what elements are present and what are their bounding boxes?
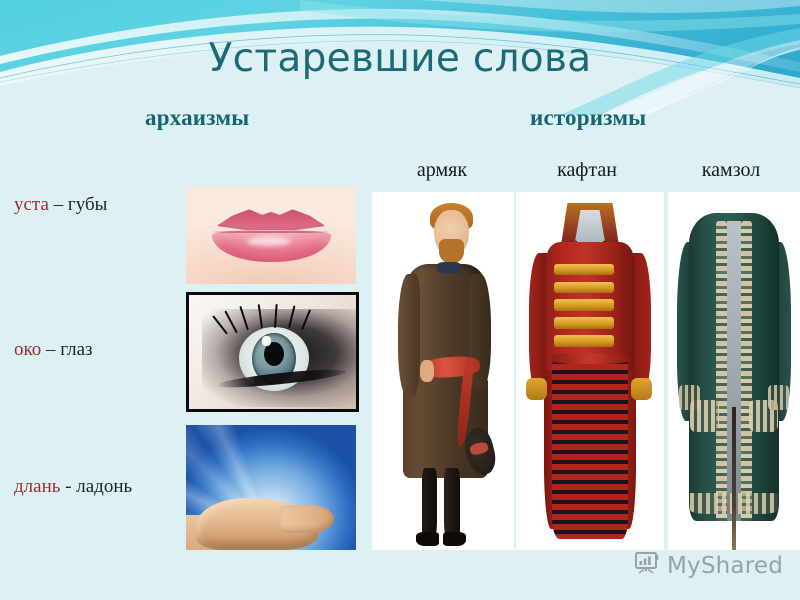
watermark-text: MyShared — [667, 553, 783, 579]
figure-collar — [437, 262, 461, 273]
slide-canvas: Устаревшие слова архаизмы историзмы уста… — [0, 0, 800, 600]
armyak-left-sleeve — [398, 274, 421, 396]
fingers — [280, 505, 334, 533]
gold-embroidery-left — [716, 221, 728, 522]
archaism-row: длань - ладонь — [14, 477, 179, 496]
archaism-row: око – глаз — [14, 340, 179, 359]
gold-braid-trim — [554, 282, 613, 294]
figure-hand — [420, 360, 434, 381]
figure-beard — [439, 239, 465, 264]
historicism-label-kamzol: камзол — [662, 159, 800, 182]
archaic-word: око — [14, 339, 41, 360]
gold-braid-trim — [554, 317, 613, 329]
right-boot-sole — [443, 532, 466, 546]
modern-word: ладонь — [76, 476, 132, 497]
gold-braid-trim — [554, 264, 613, 276]
display-mannequin-stand — [732, 407, 736, 550]
eye-photo — [186, 292, 359, 412]
historicism-label-row: армяк кафтан камзол — [372, 159, 800, 182]
modern-word: губы — [68, 194, 107, 215]
historicism-label-kaftan: кафтан — [512, 159, 662, 182]
gold-braid-trim — [554, 335, 613, 347]
category-header-historicisms: историзмы — [530, 105, 646, 131]
kamzol-left-cuff — [679, 385, 700, 410]
lips-photo — [186, 187, 356, 284]
palm-photo — [186, 425, 356, 550]
presentation-chart-icon — [634, 551, 660, 580]
kaftan-costume-photo — [516, 192, 664, 550]
left-boot-sole — [416, 532, 439, 546]
word-separator: – — [46, 339, 56, 360]
kamzol-right-cuff — [768, 385, 789, 410]
kaftan-striped-skirt — [552, 360, 629, 539]
modern-word: глаз — [60, 339, 92, 360]
kaftan-collar-lining — [575, 210, 605, 246]
kamzol-costume-photo — [668, 192, 800, 550]
gold-braid-trim — [554, 299, 613, 311]
archaic-word: уста — [14, 194, 49, 215]
category-header-archaisms: архаизмы — [145, 105, 249, 131]
page-title: Устаревшие слова — [0, 36, 800, 81]
lip-line — [213, 231, 329, 233]
watermark: MyShared — [634, 551, 783, 580]
kaftan-belt — [552, 353, 629, 364]
archaic-word: длань — [14, 476, 60, 497]
kaftan-right-cuff — [631, 378, 652, 399]
gold-embroidery-right — [741, 221, 753, 522]
kaftan-left-cuff — [526, 378, 547, 399]
word-separator: – — [54, 194, 64, 215]
archaism-row: уста – губы — [14, 195, 179, 214]
armyak-costume-illustration — [372, 192, 514, 550]
eye-catchlight — [262, 336, 270, 346]
historicism-label-armyak: армяк — [372, 159, 512, 182]
